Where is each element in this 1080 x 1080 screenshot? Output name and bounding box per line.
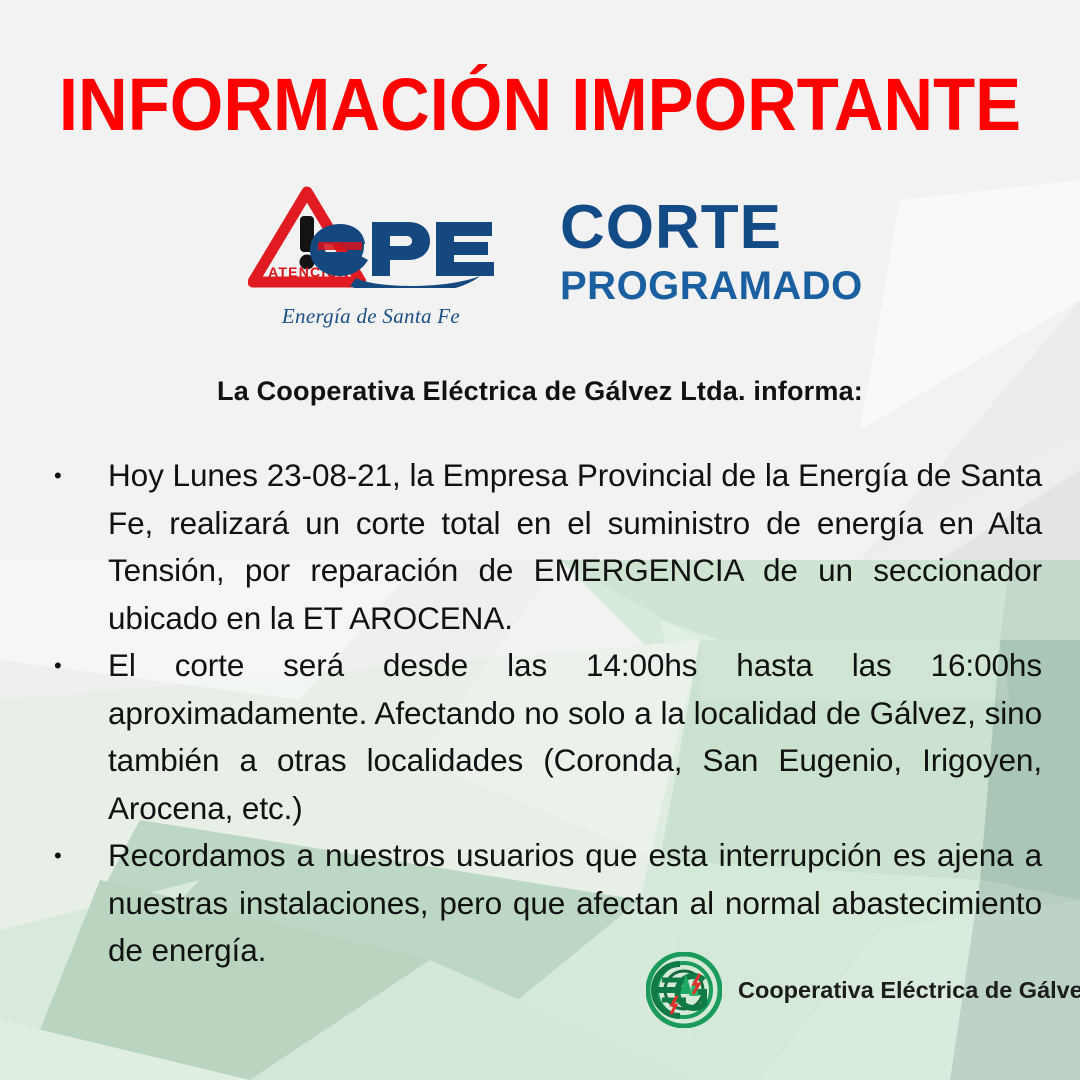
list-item: Hoy Lunes 23-08-21, la Empresa Provincia… [42,452,1042,642]
poster-content: INFORMACIÓN IMPORTANTE ATENCION [0,0,1080,1080]
cooperativa-logo-icon [646,952,722,1028]
epe-logo-graphic: ATENCION [246,186,496,298]
announcement-bullet-list: Hoy Lunes 23-08-21, la Empresa Provincia… [42,452,1042,975]
notice-heading-line2: PROGRAMADO [560,264,960,308]
footer-branding: Cooperativa Eléctrica de Gálvez Ltda. [646,952,1080,1028]
list-item: El corte será desde las 14:00hs hasta la… [42,642,1042,832]
epe-wordmark [304,206,504,286]
epe-logo: ATENCION [246,186,496,336]
epe-tagline: Energía de Santa Fe [246,304,496,329]
footer-org-name: Cooperativa Eléctrica de Gálvez Ltda. [738,977,1080,1004]
informa-subtitle: La Cooperativa Eléctrica de Gálvez Ltda.… [0,376,1080,407]
poster-canvas: INFORMACIÓN IMPORTANTE ATENCION [0,0,1080,1080]
notice-heading: CORTE PROGRAMADO [560,196,960,308]
page-title: INFORMACIÓN IMPORTANTE [38,68,1042,142]
notice-heading-line1: CORTE [560,196,960,260]
